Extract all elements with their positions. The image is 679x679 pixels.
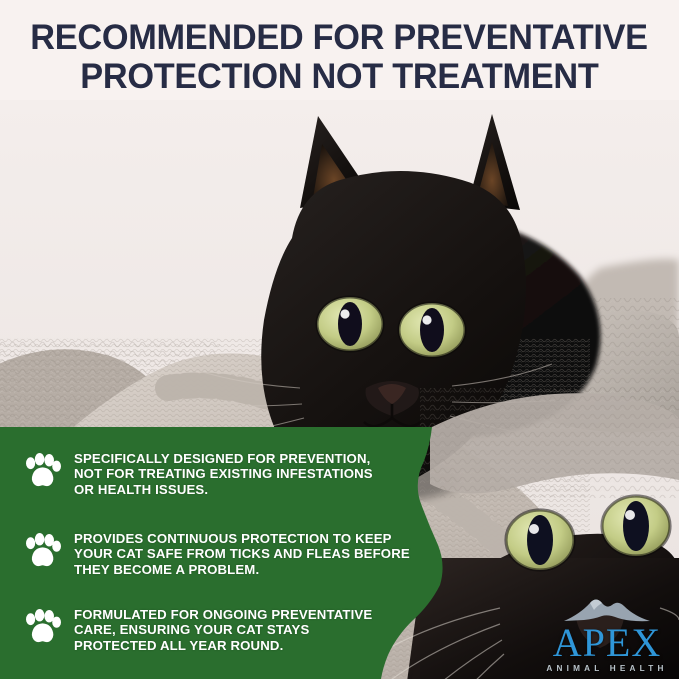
- advertisement-canvas: SPECIFICALLY DESIGNED FOR PREVENTION, NO…: [0, 0, 679, 679]
- benefits-list: SPECIFICALLY DESIGNED FOR PREVENTION, NO…: [0, 427, 460, 679]
- list-item-text: SPECIFICALLY DESIGNED FOR PREVENTION, NO…: [74, 449, 373, 497]
- page-title-line2: PROTECTION NOT TREATMENT: [80, 57, 598, 96]
- headline-banner: RECOMMENDED FOR PREVENTATIVE PROTECTION …: [0, 0, 679, 100]
- bullet-line: PROVIDES CONTINUOUS PROTECTION TO KEEP: [74, 531, 410, 546]
- paw-print-icon: [22, 607, 62, 647]
- list-item: SPECIFICALLY DESIGNED FOR PREVENTION, NO…: [22, 449, 447, 497]
- paw-print-icon: [22, 451, 62, 491]
- list-item: PROVIDES CONTINUOUS PROTECTION TO KEEP Y…: [22, 529, 447, 577]
- bullet-line: FORMULATED FOR ONGOING PREVENTATIVE: [74, 607, 372, 622]
- bullet-line: THEY BECOME A PROBLEM.: [74, 562, 410, 577]
- list-item-text: PROVIDES CONTINUOUS PROTECTION TO KEEP Y…: [74, 529, 410, 577]
- brand-logo: APEX ANIMAL HEALTH: [541, 594, 673, 673]
- bullet-line: NOT FOR TREATING EXISTING INFESTATIONS: [74, 466, 373, 481]
- bullet-line: OR HEALTH ISSUES.: [74, 482, 373, 497]
- page-title: RECOMMENDED FOR PREVENTATIVE: [31, 18, 648, 57]
- brand-name: APEX: [541, 624, 673, 662]
- bullet-line: SPECIFICALLY DESIGNED FOR PREVENTION,: [74, 451, 373, 466]
- list-item-text: FORMULATED FOR ONGOING PREVENTATIVE CARE…: [74, 605, 372, 653]
- bullet-line: YOUR CAT SAFE FROM TICKS AND FLEAS BEFOR…: [74, 546, 410, 561]
- bullet-line: PROTECTED ALL YEAR ROUND.: [74, 638, 372, 653]
- list-item: FORMULATED FOR ONGOING PREVENTATIVE CARE…: [22, 605, 447, 653]
- bullet-line: CARE, ENSURING YOUR CAT STAYS: [74, 622, 372, 637]
- paw-print-icon: [22, 531, 62, 571]
- brand-tagline: ANIMAL HEALTH: [541, 664, 673, 673]
